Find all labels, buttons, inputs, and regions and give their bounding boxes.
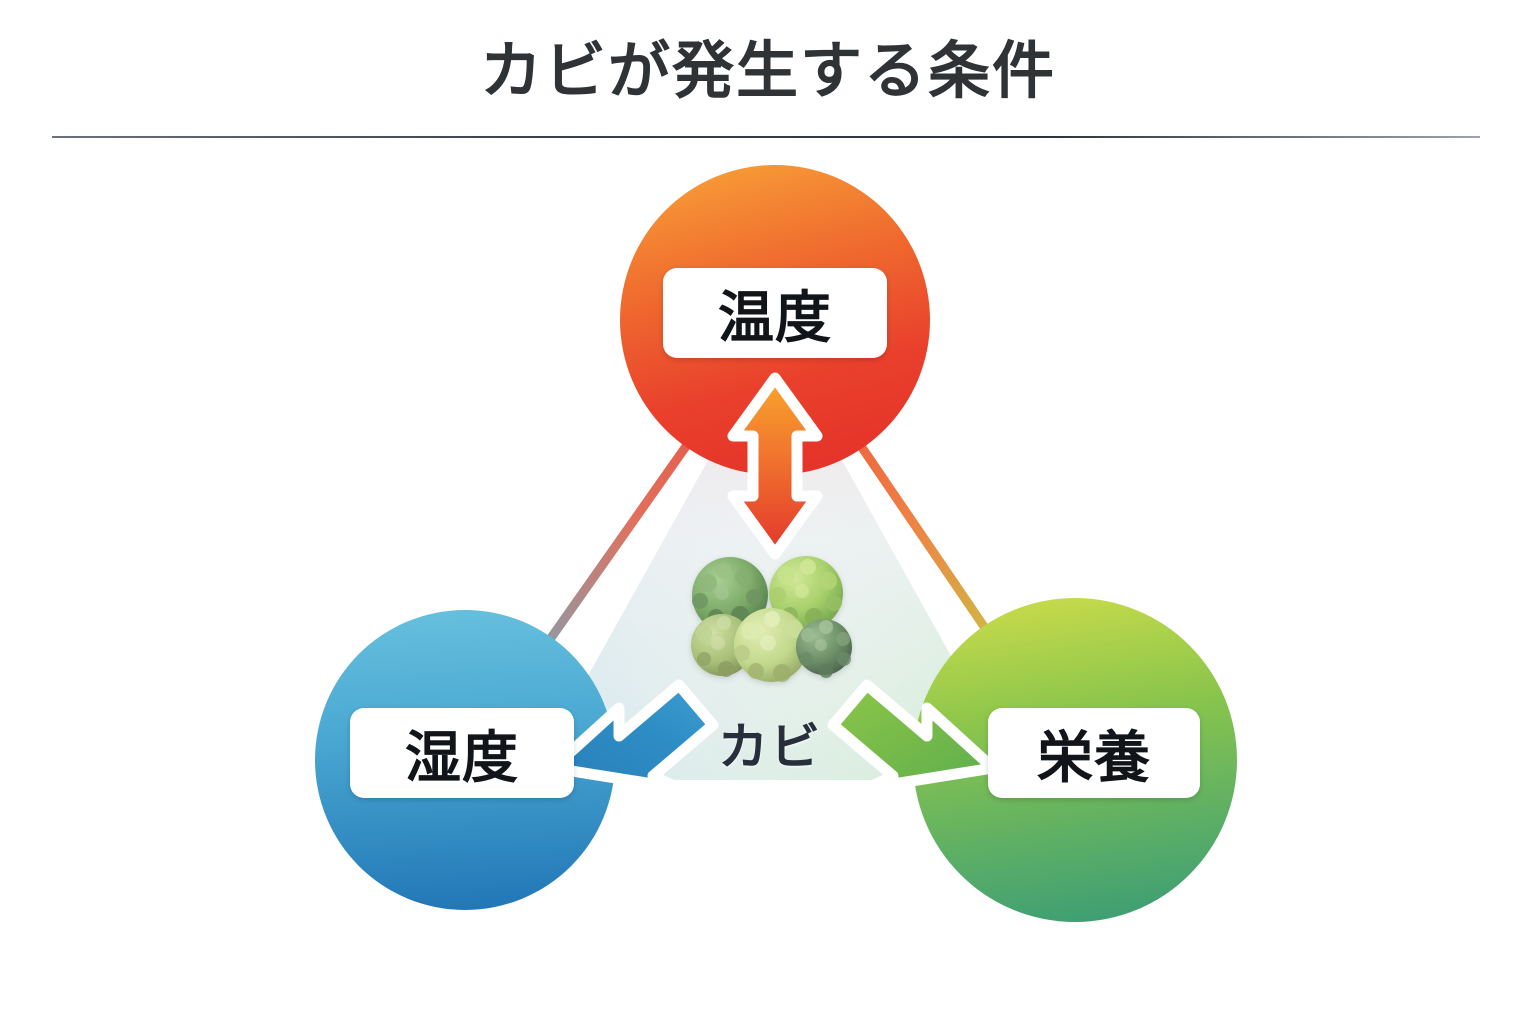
- mold-conditions-diagram: カビ 温度 湿度 栄養: [0, 140, 1536, 1024]
- page-title: カビが発生する条件: [0, 36, 1536, 108]
- mold-cluster-icon: [678, 545, 868, 700]
- mold-sphere-5: [796, 619, 852, 678]
- title-divider: [52, 136, 1480, 138]
- node-label-temperature[interactable]: 温度: [663, 268, 887, 358]
- node-label-nutrition[interactable]: 栄養: [988, 708, 1200, 798]
- center-caption: カビ: [660, 708, 880, 778]
- title-area: カビが発生する条件: [0, 0, 1536, 140]
- node-label-humidity[interactable]: 湿度: [350, 708, 574, 798]
